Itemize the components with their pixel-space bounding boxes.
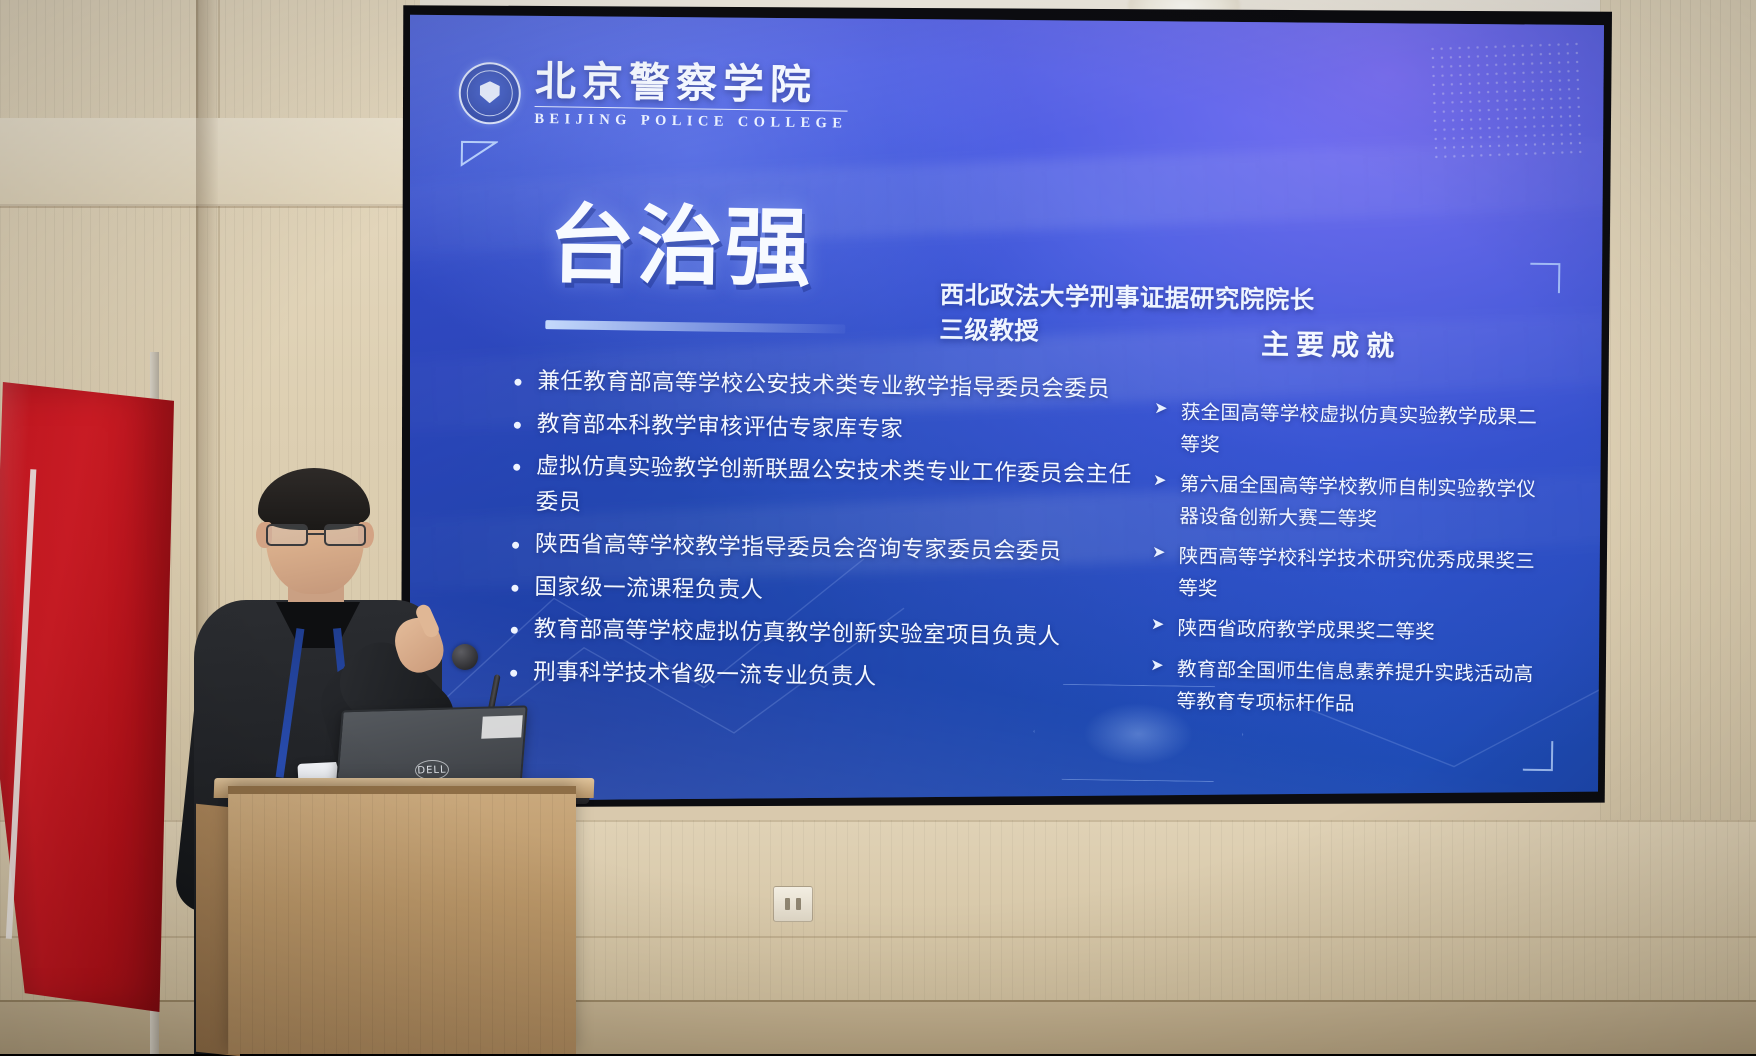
- speaker-identity: 台治强 西北政法大学刑事证据研究院院长 三级教授: [548, 202, 813, 292]
- list-item-label: 兼任教育部高等学校公安技术类专业教学指导委员会委员: [537, 364, 1148, 409]
- list-item: 陕西省高等学校教学指导委员会咨询专家委员会委员: [506, 527, 1146, 572]
- list-item: 教育部本科教学审核评估专家库专家: [508, 406, 1148, 451]
- list-item: 教育部高等学校虚拟仿真教学创新实验室项目负责人: [505, 612, 1145, 657]
- police-emblem-icon: [458, 62, 521, 125]
- bullet-dot-icon: [514, 421, 521, 428]
- speaker-name: 台治强: [548, 202, 813, 292]
- power-outlet-icon: [773, 886, 813, 922]
- arrow-bullet-icon: ➤: [1152, 544, 1166, 560]
- arrow-bullet-icon: ➤: [1150, 657, 1164, 673]
- right-lens: [324, 524, 366, 546]
- arrow-bullet-icon: ➤: [1154, 400, 1168, 416]
- list-item-label: 第六届全国高等学校教师自制实验教学仪器设备创新大赛二等奖: [1179, 469, 1545, 538]
- left-lens: [266, 524, 308, 546]
- list-item-label: 国家级一流课程负责人: [534, 570, 1145, 615]
- bullet-dot-icon: [511, 584, 518, 591]
- list-item: 刑事科学技术省级一流专业负责人: [504, 654, 1144, 699]
- list-item-label: 获全国高等学校虚拟仿真实验教学成果二等奖: [1180, 397, 1546, 466]
- college-branding: 北京警察学院 BEIJING POLICE COLLEGE: [458, 59, 848, 133]
- list-item: 国家级一流课程负责人: [505, 569, 1145, 614]
- list-item-label: 陕西省政府教学成果奖二等奖: [1177, 613, 1435, 648]
- list-item: ➤ 第六届全国高等学校教师自制实验教学仪器设备创新大赛二等奖: [1152, 468, 1545, 537]
- microphone-head-icon: [452, 644, 478, 670]
- flag-white-trim: [6, 469, 150, 945]
- college-name-en: BEIJING POLICE COLLEGE: [534, 106, 847, 133]
- bullet-dot-icon: [512, 542, 519, 549]
- arrow-bullet-icon: ➤: [1151, 617, 1165, 633]
- name-underline: [545, 320, 845, 333]
- list-item-label: 陕西省高等学校教学指导委员会咨询专家委员会委员: [535, 527, 1146, 572]
- chinese-flag-banner: [0, 352, 210, 1054]
- lecture-hall-scene: 北京警察学院 BEIJING POLICE COLLEGE 台治强 西北政法大学…: [0, 0, 1756, 1054]
- corner-bracket-top-right-icon: [1530, 263, 1560, 293]
- achievements-list: ➤ 获全国高等学校虚拟仿真实验教学成果二等奖 ➤ 第六届全国高等学校教师自制实验…: [1149, 396, 1546, 731]
- list-item-label: 教育部高等学校虚拟仿真教学创新实验室项目负责人: [534, 612, 1145, 657]
- list-item: ➤ 陕西省政府教学成果奖二等奖: [1151, 613, 1543, 650]
- list-item-label: 陕西高等学校科学技术研究优秀成果奖三等奖: [1178, 541, 1544, 610]
- list-item: 虚拟仿真实验教学创新联盟公安技术类专业工作委员会主任委员: [506, 449, 1147, 530]
- list-item-label: 教育部本科教学审核评估专家库专家: [537, 407, 1148, 452]
- list-item-label: 虚拟仿真实验教学创新联盟公安技术类专业工作委员会主任委员: [535, 449, 1147, 529]
- college-name-cn: 北京警察学院: [535, 60, 849, 108]
- arrow-bullet-icon: ➤: [1153, 472, 1167, 488]
- triangle-accent-icon: [460, 139, 498, 168]
- corner-bracket-bottom-right-icon: [1523, 741, 1553, 771]
- presentation-screen[interactable]: 北京警察学院 BEIJING POLICE COLLEGE 台治强 西北政法大学…: [404, 10, 1604, 806]
- lectern-podium: [228, 786, 576, 1054]
- list-item-label: 教育部全国师生信息素养提升实践活动高等教育专项标杆作品: [1176, 654, 1542, 723]
- eyeglasses-icon: [264, 524, 368, 546]
- list-item: ➤ 获全国高等学校虚拟仿真实验教学成果二等奖: [1153, 396, 1546, 465]
- list-item-label: 刑事科学技术省级一流专业负责人: [533, 655, 1144, 700]
- affiliation-line-1: 西北政法大学刑事证据研究院院长: [940, 278, 1360, 319]
- achievements-heading: 主要成就: [1261, 323, 1402, 365]
- bullet-dot-icon: [513, 464, 520, 471]
- bullet-dot-icon: [510, 669, 517, 676]
- bullet-dot-icon: [514, 379, 521, 386]
- list-item: 兼任教育部高等学校公安技术类专业教学指导委员会委员: [508, 364, 1148, 409]
- glasses-bridge: [308, 533, 324, 535]
- credentials-list: 兼任教育部高等学校公安技术类专业教学指导委员会委员 教育部本科教学审核评估专家库…: [504, 364, 1149, 707]
- laptop-sticker: [481, 715, 523, 738]
- slide-content: 北京警察学院 BEIJING POLICE COLLEGE 台治强 西北政法大学…: [404, 10, 1604, 806]
- list-item: ➤ 陕西高等学校科学技术研究优秀成果奖三等奖: [1151, 540, 1544, 609]
- hair: [258, 468, 370, 530]
- bullet-dot-icon: [511, 627, 518, 634]
- college-name-group: 北京警察学院 BEIJING POLICE COLLEGE: [534, 60, 848, 133]
- list-item: ➤ 教育部全国师生信息素养提升实践活动高等教育专项标杆作品: [1150, 653, 1543, 722]
